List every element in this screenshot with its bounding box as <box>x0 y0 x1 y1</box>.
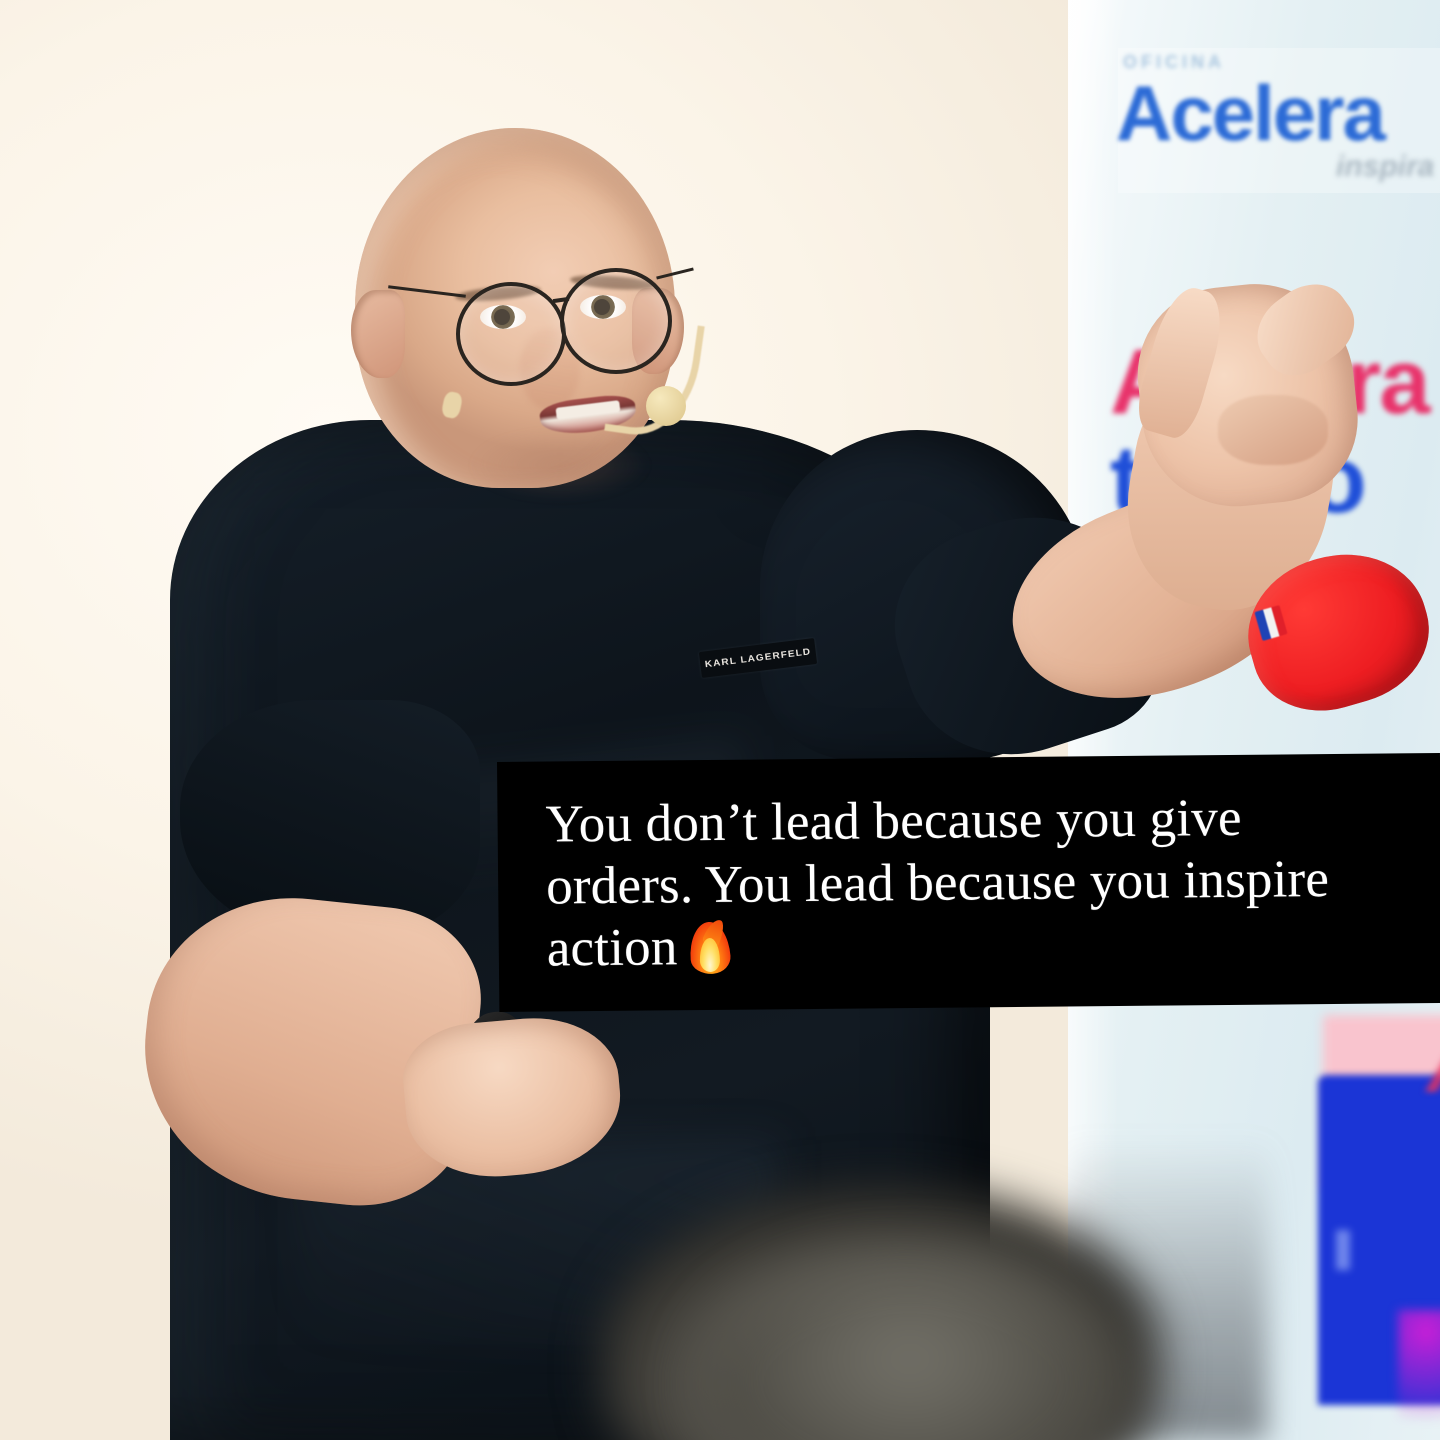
fire-emoji <box>687 922 731 974</box>
quote-line-2: orders. You lead because you inspire <box>546 850 1329 916</box>
screenshot-canvas: OFICINA Acelera inspira Acelera trasfo t… <box>0 0 1440 1440</box>
quote-caption-text: You don’t lead because you give orders. … <box>497 777 1440 988</box>
quote-line-1: You don’t lead because you give <box>545 789 1242 854</box>
quote-line-3: action <box>547 918 678 977</box>
quote-caption-box: You don’t lead because you give orders. … <box>497 753 1440 1012</box>
shirt-brand-label-text: KARL LAGERFELD <box>704 646 811 669</box>
eyeglasses-left-lens-icon <box>456 282 566 386</box>
chin-shadow <box>470 430 650 500</box>
right-hand-knuckles <box>1218 395 1328 465</box>
headset-microphone-capsule <box>646 386 686 426</box>
